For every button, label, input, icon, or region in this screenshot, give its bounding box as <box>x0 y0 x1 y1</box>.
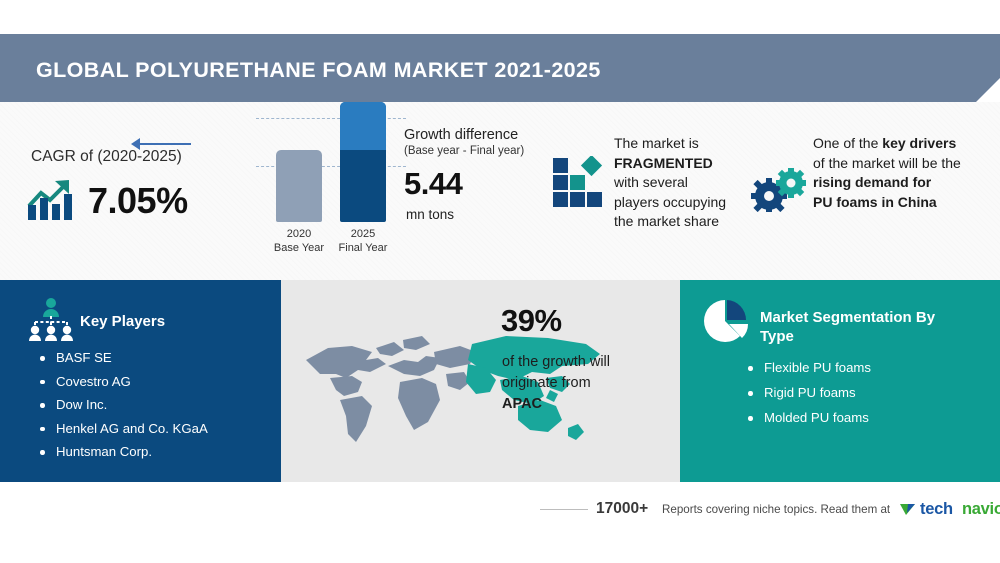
list-item: Molded PU foams <box>742 410 871 425</box>
cagr-label: CAGR of (2020-2025) <box>31 148 182 166</box>
cagr-value: 7.05% <box>88 180 188 222</box>
key-drivers-text: One of the key drivers of the market wil… <box>813 134 999 212</box>
drivers-line4: PU foams in China <box>813 194 937 210</box>
growth-difference-unit: mn tons <box>406 207 454 222</box>
growth-arrow-line <box>135 143 191 145</box>
key-players-list: BASF SE Covestro AG Dow Inc. Henkel AG a… <box>34 350 208 468</box>
footer <box>0 482 1000 563</box>
technavio-mark-icon <box>900 502 917 517</box>
bar-2025-growth-segment <box>340 102 386 150</box>
footer-report-count: 17000+ <box>596 500 648 518</box>
bar-2025-year: 2025 <box>328 228 398 240</box>
drivers-keyword: key drivers <box>882 135 956 151</box>
footer-divider <box>540 509 588 510</box>
fragmented-keyword: FRAGMENTED <box>614 155 713 171</box>
list-item: Covestro AG <box>34 374 208 389</box>
pie-chart-icon <box>703 298 751 346</box>
gears-icon <box>751 168 809 212</box>
fragmented-line3: with several <box>614 174 688 190</box>
footer-tagline: Reports covering niche topics. Read them… <box>662 503 890 516</box>
key-players-title: Key Players <box>80 313 165 330</box>
list-item: BASF SE <box>34 350 208 365</box>
drivers-line1: One of the <box>813 135 882 151</box>
bar-2020 <box>276 150 322 222</box>
fragmented-text: The market is FRAGMENTED with several pl… <box>614 134 754 232</box>
region-line1: of the growth will <box>502 354 610 370</box>
list-item: Dow Inc. <box>34 397 208 412</box>
fragmented-line1: The market is <box>614 135 699 151</box>
growth-difference-subtitle: (Base year - Final year) <box>404 145 524 157</box>
growth-difference-title: Growth difference <box>404 127 518 143</box>
infographic-canvas: GLOBAL POLYURETHANE FOAM MARKET 2021-202… <box>0 0 1000 563</box>
bar-2020-year: 2020 <box>264 228 334 240</box>
list-item: Henkel AG and Co. KGaA <box>34 421 208 436</box>
list-item: Rigid PU foams <box>742 385 871 400</box>
region-text: of the growth will originate from APAC <box>502 352 672 415</box>
drivers-line3: rising demand for <box>813 174 931 190</box>
region-line2: originate from <box>502 375 591 391</box>
list-item: Flexible PU foams <box>742 360 871 375</box>
fragmented-line5: the market share <box>614 213 719 229</box>
bar-2020-role: Base Year <box>264 242 334 254</box>
technavio-logo-tech: tech <box>920 500 953 519</box>
region-percent: 39% <box>501 303 562 339</box>
squares-diamond-icon <box>551 156 607 208</box>
bar-2025 <box>340 102 386 222</box>
technavio-logo-navio: navio <box>962 500 1000 519</box>
fragmented-line4: players occupying <box>614 194 726 210</box>
segmentation-title: Market Segmentation By Type <box>760 308 960 346</box>
bar-chart-growth-icon <box>25 176 77 222</box>
bar-2025-role: Final Year <box>328 242 398 254</box>
org-chart-people-icon <box>27 296 75 342</box>
drivers-line2: of the market will be the <box>813 155 961 171</box>
growth-difference-value: 5.44 <box>404 166 462 202</box>
segmentation-list: Flexible PU foams Rigid PU foams Molded … <box>742 360 871 435</box>
page-title: GLOBAL POLYURETHANE FOAM MARKET 2021-202… <box>36 58 601 83</box>
growth-bar-chart: 2020 Base Year 2025 Final Year <box>256 116 406 256</box>
region-name: APAC <box>502 396 542 412</box>
list-item: Huntsman Corp. <box>34 444 208 459</box>
